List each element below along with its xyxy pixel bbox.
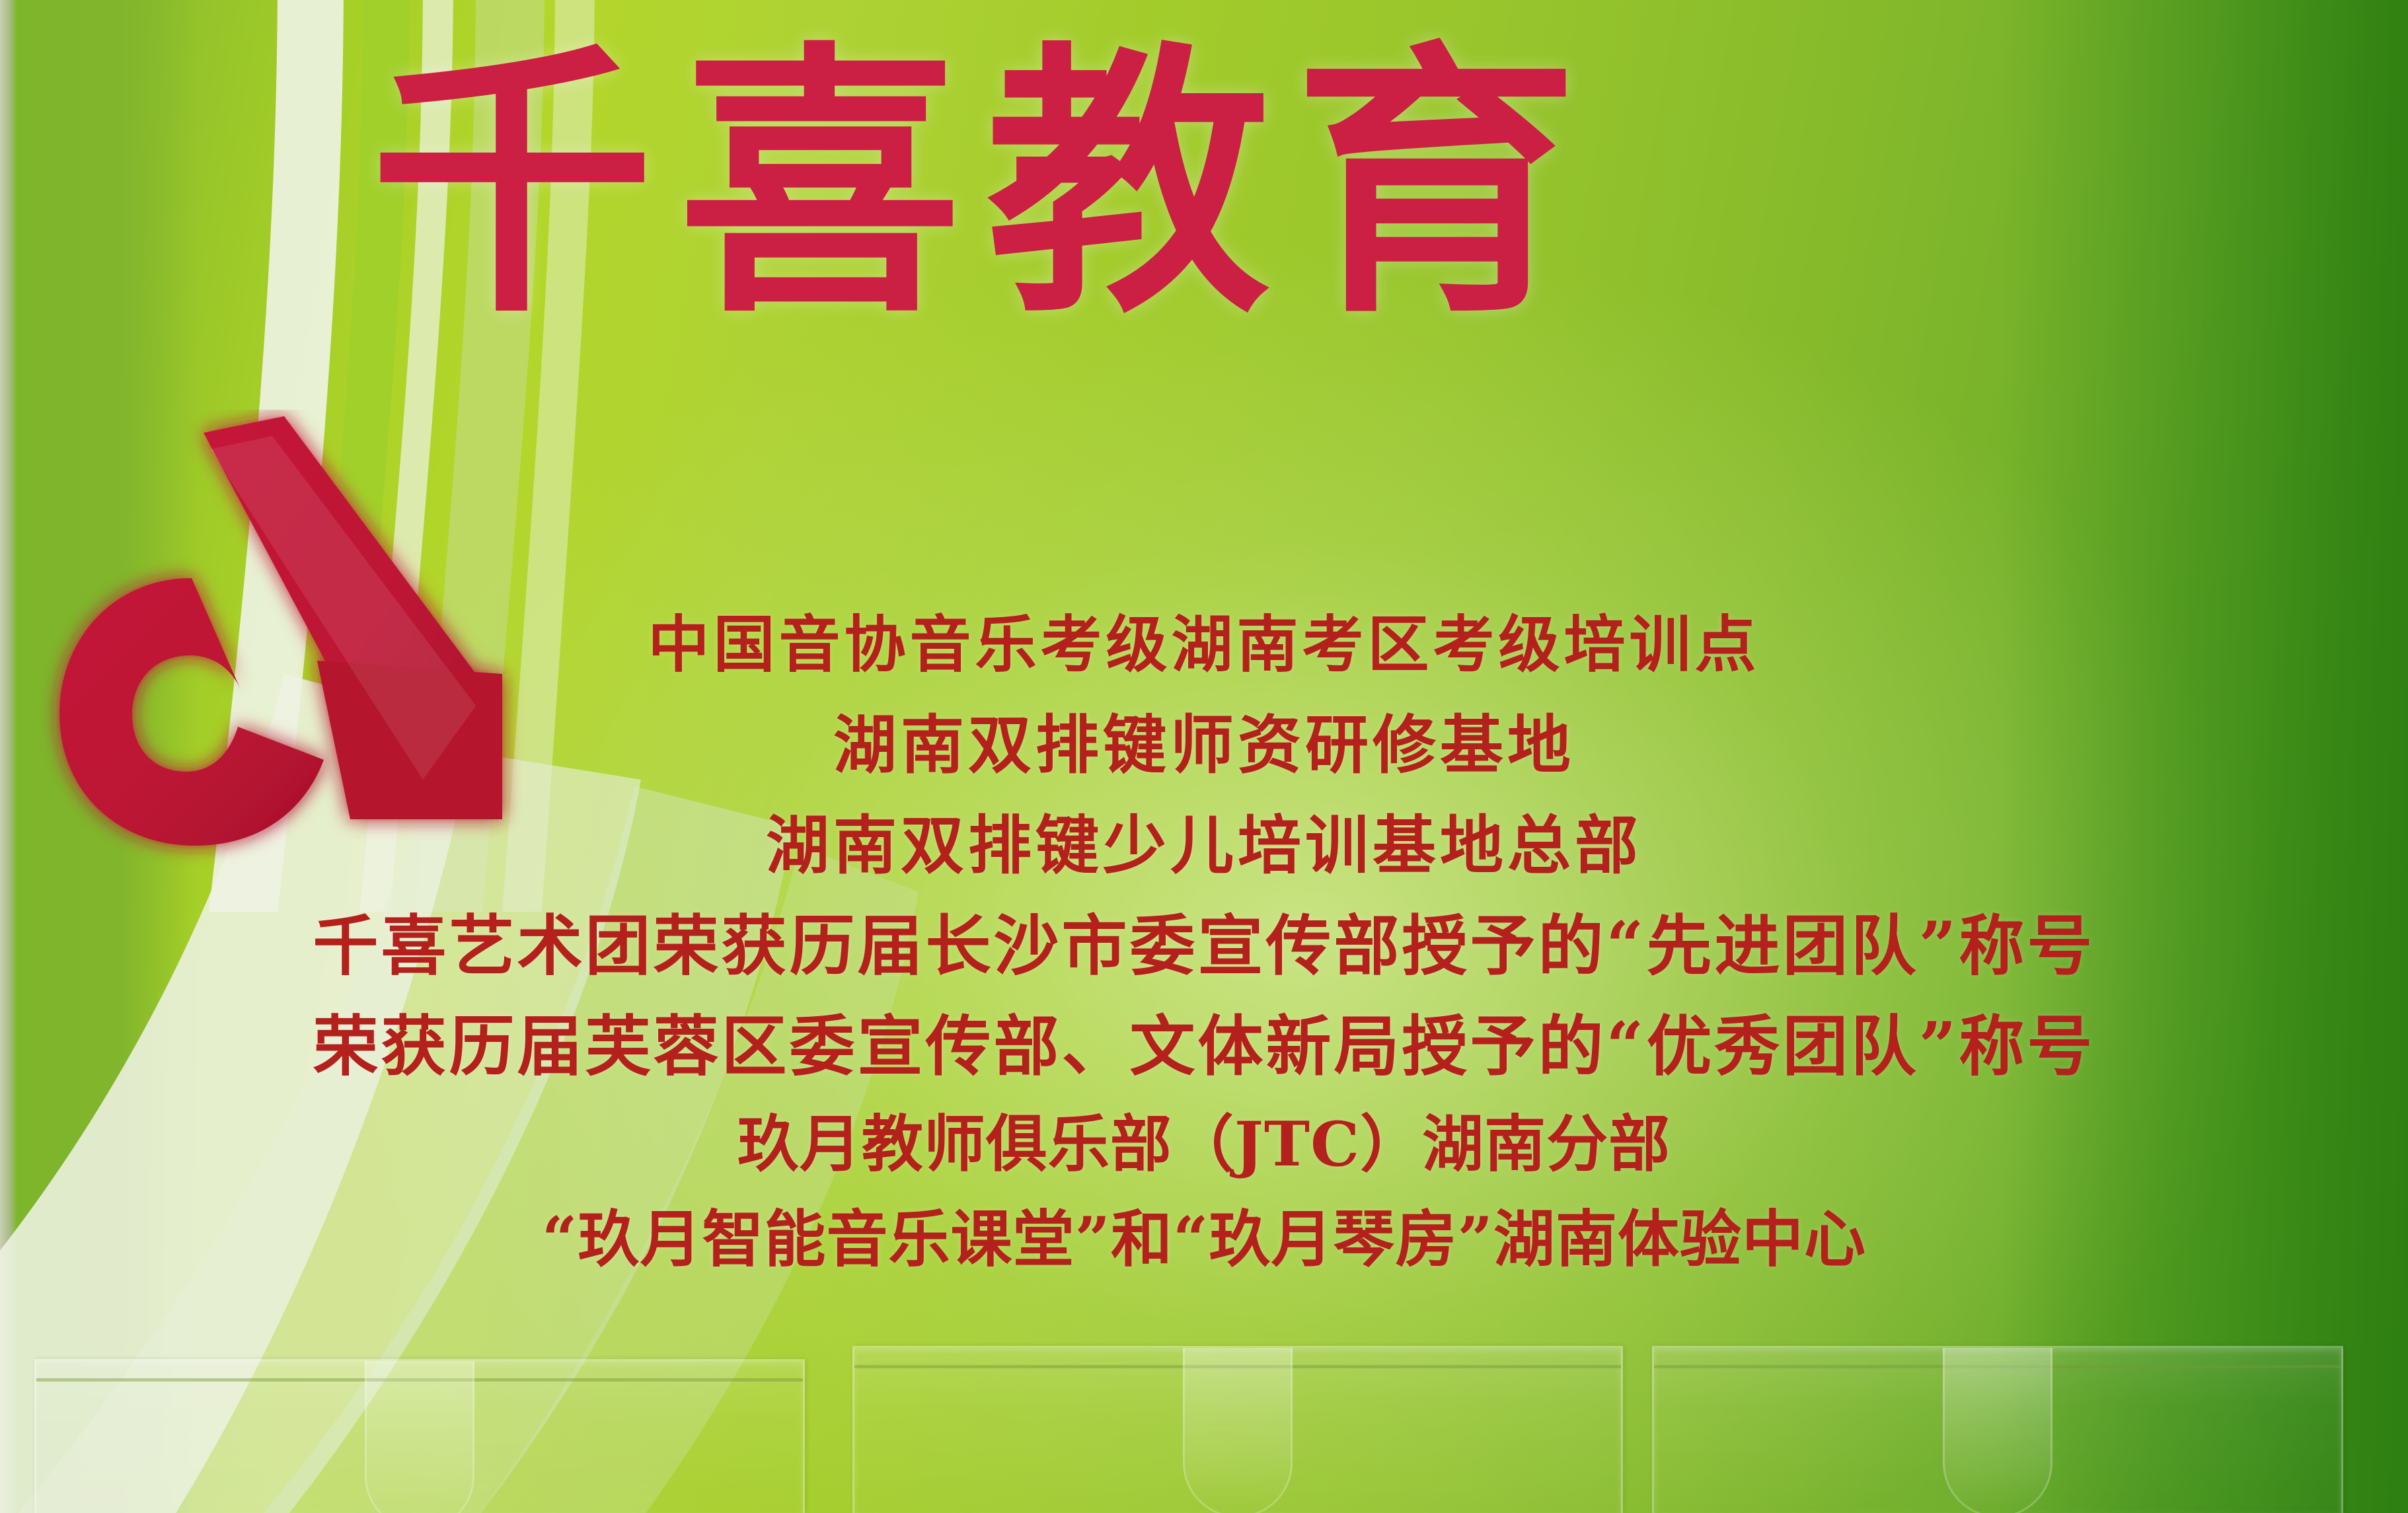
credential-line: 湖南双排键少儿培训基地总部 xyxy=(0,795,2408,896)
credential-line: 荣获历届芙蓉区委宣传部、文体新局授予的“优秀团队”称号 xyxy=(0,996,2408,1097)
signboard-photo: 千喜教育 中国音协音乐考级湖南考区考级培训点 湖南双排键师资研修基地 湖南双排键… xyxy=(0,0,2408,1513)
page-title: 千喜教育 xyxy=(370,40,2062,330)
brochure-holder-right[interactable] xyxy=(1652,1346,2343,1513)
credential-line: 湖南双排键师资研修基地 xyxy=(0,695,2408,795)
credential-line: 千喜艺术团荣获历届长沙市委宣传部授予的“先进团队”称号 xyxy=(0,896,2408,996)
holder-thumb-notch xyxy=(365,1359,474,1513)
credential-line: “玖月智能音乐课堂”和“玖月琴房”湖南体验中心 xyxy=(0,1192,2408,1287)
credential-line: 玖月教师俱乐部（JTC）湖南分部 xyxy=(0,1097,2408,1192)
credential-list: 中国音协音乐考级湖南考区考级培训点 湖南双排键师资研修基地 湖南双排键少儿培训基… xyxy=(0,595,2408,1287)
brochure-holder-left[interactable] xyxy=(34,1359,805,1513)
holder-thumb-notch xyxy=(1943,1346,2052,1513)
brochure-holder-center[interactable] xyxy=(852,1346,1623,1513)
credential-line: 中国音协音乐考级湖南考区考级培训点 xyxy=(0,595,2408,695)
holder-thumb-notch xyxy=(1183,1346,1293,1513)
